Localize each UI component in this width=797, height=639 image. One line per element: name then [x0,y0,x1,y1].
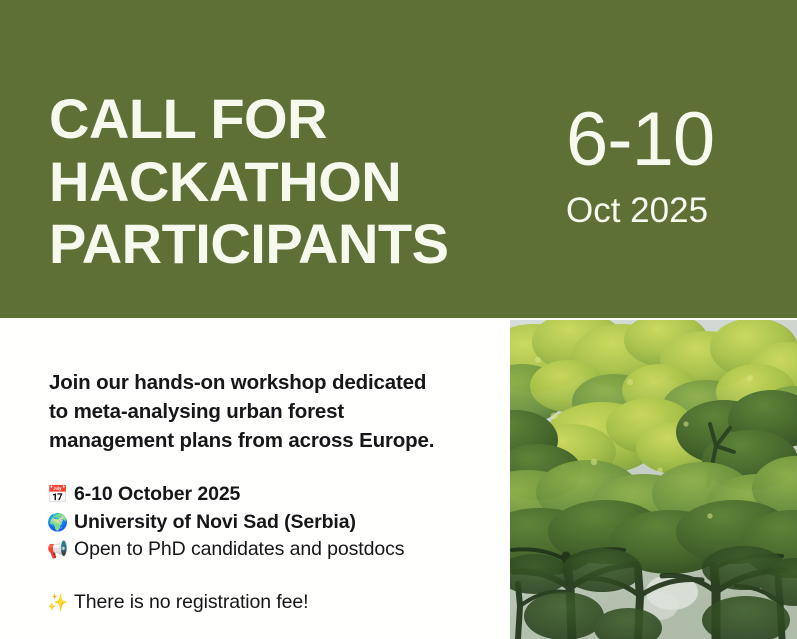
intro-paragraph: Join our hands-on workshop dedicated to … [49,368,469,455]
header-band: CALL FOR HACKATHON PARTICIPANTS 6-10 Oct… [0,0,797,318]
event-date-month: Oct 2025 [566,193,714,228]
fee-label: There is no registration fee! [74,589,308,617]
event-date-block: 6-10 Oct 2025 [566,104,714,228]
forest-canopy-photo [510,320,797,639]
loudspeaker-icon: 📢 [47,541,67,558]
globe-europe-africa-icon: 🌍 [47,514,67,531]
event-date-range: 6-10 [566,104,714,177]
page-title: CALL FOR HACKATHON PARTICIPANTS [49,88,469,276]
poster-card: CALL FOR HACKATHON PARTICIPANTS 6-10 Oct… [0,0,797,639]
sparkles-icon: ✨ [47,594,67,611]
calendar-icon: 📅 [47,486,67,503]
fact-label-audience: Open to PhD candidates and postdocs [74,536,404,564]
list-item: 📅 6-10 October 2025 [47,481,497,509]
list-item: 🌍 University of Novi Sad (Serbia) [47,509,497,537]
body-area: Join our hands-on workshop dedicated to … [0,318,510,639]
registration-fee-note: ✨ There is no registration fee! [47,589,308,617]
event-facts-list: 📅 6-10 October 2025 🌍 University of Novi… [47,481,497,564]
list-item: 📢 Open to PhD candidates and postdocs [47,536,497,564]
fact-label-date: 6-10 October 2025 [74,481,240,509]
fact-label-venue: University of Novi Sad (Serbia) [74,509,356,537]
